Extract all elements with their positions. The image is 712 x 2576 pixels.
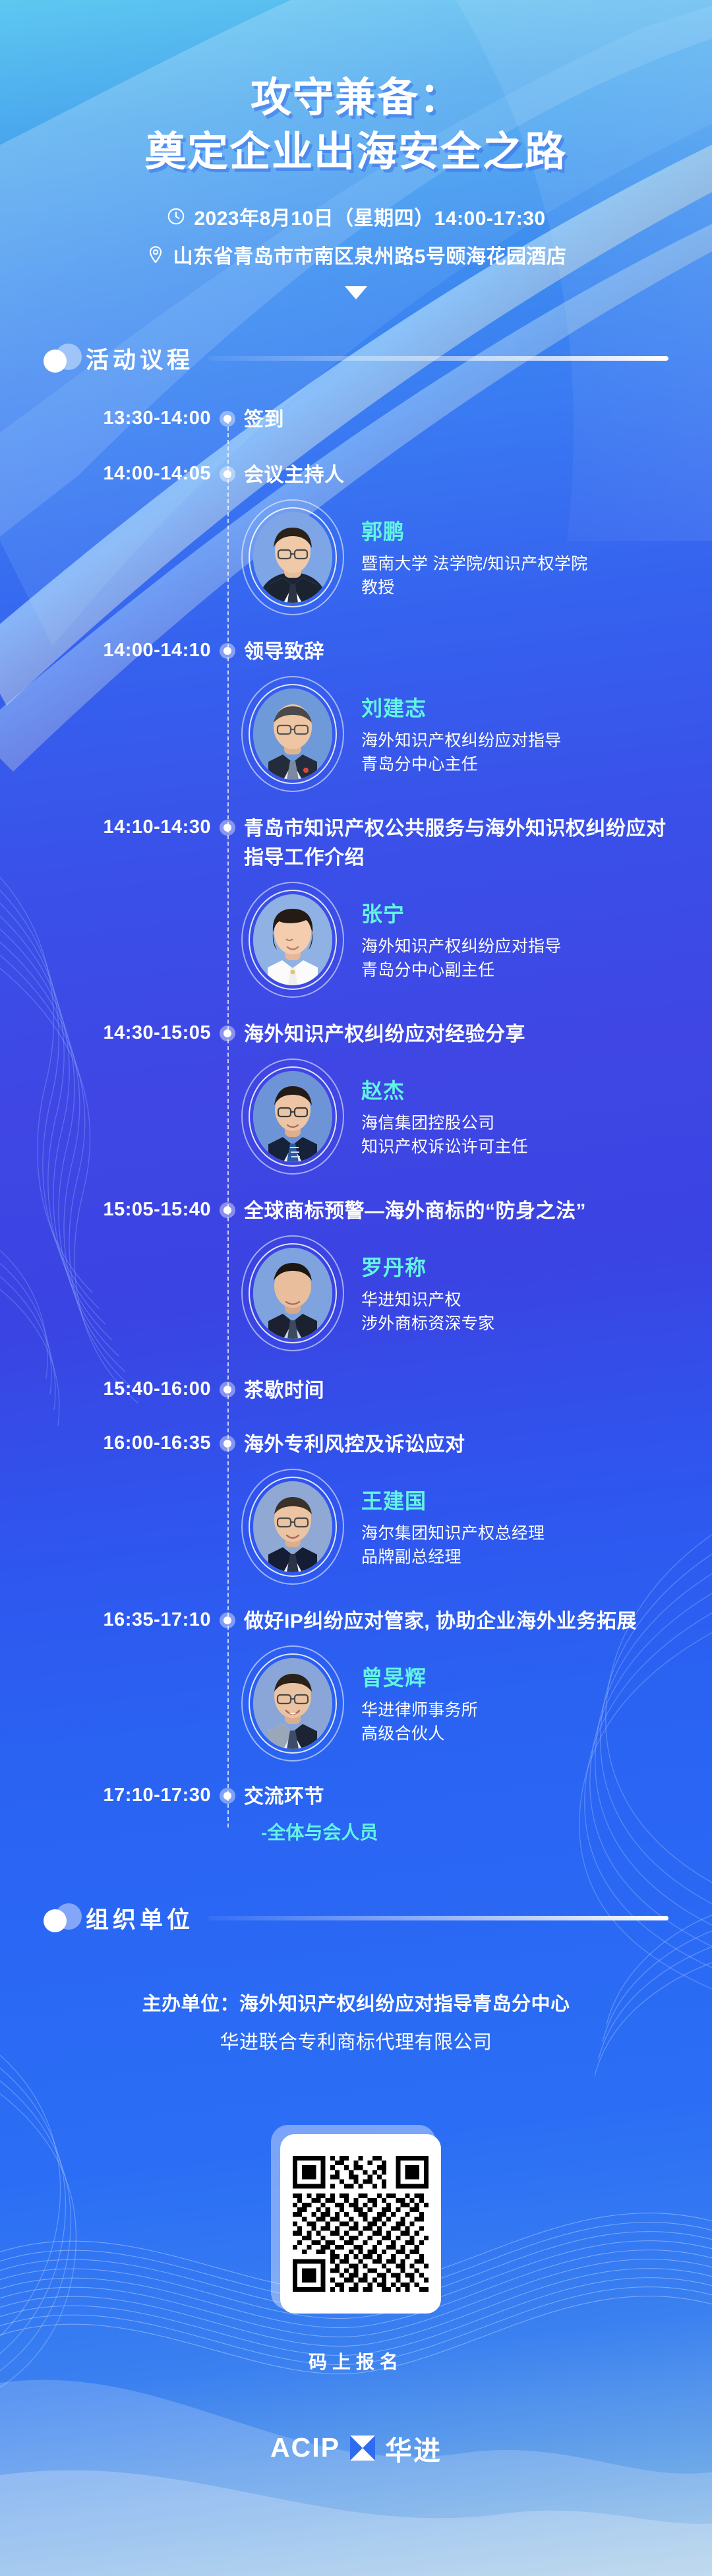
timeline-dot-icon xyxy=(220,1436,235,1452)
speaker-photo xyxy=(253,512,332,603)
agenda-time: 16:00-16:35 xyxy=(0,1430,211,1456)
speaker-block: 曾旻辉 华进律师事务所 高级合伙人 xyxy=(0,1645,712,1762)
timeline-dot-icon xyxy=(220,643,235,659)
event-datetime-row: 2023年8月10日（星期四）14:00-17:30 xyxy=(0,202,712,231)
speaker-text: 郭鹏 暨南大学 法学院/知识产权学院 教授 xyxy=(361,515,587,599)
agenda-time: 14:10-14:30 xyxy=(0,814,211,840)
speaker-name: 刘建志 xyxy=(361,692,562,722)
speaker-photo xyxy=(253,689,332,780)
speaker-photo xyxy=(253,894,332,985)
timeline-dot-wrap xyxy=(211,1376,244,1397)
page-title-line-1: 攻守兼备： xyxy=(0,71,712,125)
timeline-dot-icon xyxy=(220,1382,235,1397)
avatar xyxy=(241,1058,344,1175)
speaker-text: 刘建志 海外知识产权纠纷应对指导 青岛分中心主任 xyxy=(361,692,562,776)
speaker-affiliation-1: 海外知识产权纠纷应对指导 xyxy=(361,935,562,958)
organizer-name-2: 华进联合专利商标代理有限公司 xyxy=(0,2023,712,2062)
speaker-block: 张宁 海外知识产权纠纷应对指导 青岛分中心副主任 xyxy=(0,882,712,998)
speaker-block: 罗丹称 华进知识产权 涉外商标资深专家 xyxy=(0,1235,712,1351)
qr-caption: 码上报名 xyxy=(0,2348,712,2374)
agenda-time: 14:30-15:05 xyxy=(0,1020,211,1045)
avatar xyxy=(241,1645,344,1762)
agenda-topic: 领导致辞 xyxy=(244,638,712,667)
speaker-text: 王建国 海尔集团知识产权总经理 品牌副总经理 xyxy=(361,1485,545,1569)
agenda-topic: 海外知识产权纠纷应对经验分享 xyxy=(244,1020,712,1049)
agenda-row: 16:35-17:10 做好IP纠纷应对管家, 协助企业海外业务拓展 xyxy=(0,1607,712,1636)
organizer-section-title: 组织单位 xyxy=(86,1901,194,1935)
agenda-row: 14:10-14:30 青岛市知识产权公共服务与海外知识权纠纷应对指导工作介绍 xyxy=(0,814,712,873)
speaker-name: 郭鹏 xyxy=(361,515,587,545)
section-marker-dots-icon xyxy=(44,344,80,373)
speaker-affiliation-2: 青岛分中心副主任 xyxy=(361,958,562,982)
speaker-affiliation-2: 青岛分中心主任 xyxy=(361,752,562,776)
speaker-photo xyxy=(253,1071,332,1162)
speaker-text: 曾旻辉 华进律师事务所 高级合伙人 xyxy=(361,1661,478,1746)
timeline-dot-icon xyxy=(220,466,235,482)
agenda-topic: 海外专利风控及诉讼应对 xyxy=(244,1430,712,1459)
speaker-photo xyxy=(253,1481,332,1572)
speaker-affiliation-2: 品牌副总经理 xyxy=(361,1545,545,1569)
agenda-topic: 做好IP纠纷应对管家, 协助企业海外业务拓展 xyxy=(244,1607,712,1636)
avatar xyxy=(241,676,344,792)
timeline-dot-icon xyxy=(220,1026,235,1041)
qr-card[interactable] xyxy=(280,2134,441,2314)
speaker-text: 张宁 海外知识产权纠纷应对指导 青岛分中心副主任 xyxy=(361,898,562,982)
speaker-affiliation-1: 华进律师事务所 xyxy=(361,1698,478,1722)
timeline-dot-wrap xyxy=(211,406,244,427)
agenda-timeline: 13:30-14:00 签到 14:00-14:05 会议主持人 xyxy=(0,406,712,1854)
organizer-primary-line: 主办单位：海外知识产权纠纷应对指导青岛分中心 xyxy=(0,1985,712,2023)
poster-header: 攻守兼备： 奠定企业出海安全之路 2023年8月10日（星期四）14:00-17… xyxy=(0,0,712,299)
timeline-dot-icon xyxy=(220,411,235,427)
brand-latin-text: ACIP xyxy=(270,2432,340,2463)
speaker-photo xyxy=(253,1658,332,1749)
avatar xyxy=(241,882,344,998)
timeline-dot-icon xyxy=(220,1788,235,1804)
speaker-affiliation-2: 高级合伙人 xyxy=(361,1722,478,1746)
speaker-affiliation-1: 暨南大学 法学院/知识产权学院 xyxy=(361,552,587,576)
speaker-text: 赵杰 海信集团控股公司 知识产权诉讼许可主任 xyxy=(361,1074,528,1159)
speaker-affiliation-1: 海信集团控股公司 xyxy=(361,1111,528,1135)
speaker-affiliation-2: 教授 xyxy=(361,576,587,599)
timeline-dot-wrap xyxy=(211,814,244,836)
speaker-name: 曾旻辉 xyxy=(361,1661,478,1692)
avatar xyxy=(241,1469,344,1585)
speaker-block: 王建国 海尔集团知识产权总经理 品牌副总经理 xyxy=(0,1469,712,1585)
speaker-name: 罗丹称 xyxy=(361,1251,494,1281)
speaker-affiliation-2: 知识产权诉讼许可主任 xyxy=(361,1135,528,1159)
agenda-topic: 青岛市知识产权公共服务与海外知识权纠纷应对指导工作介绍 xyxy=(244,814,712,873)
speaker-block: 郭鹏 暨南大学 法学院/知识产权学院 教授 xyxy=(0,499,712,615)
agenda-row: 13:30-14:00 签到 xyxy=(0,406,712,435)
timeline-dot-wrap xyxy=(211,1197,244,1218)
timeline-dot-icon xyxy=(220,820,235,836)
caret-down-icon xyxy=(345,286,367,299)
section-divider-rule xyxy=(208,1916,668,1920)
agenda-time: 17:10-17:30 xyxy=(0,1783,211,1808)
agenda-row: 17:10-17:30 交流环节 -全体与会人员 xyxy=(0,1783,712,1847)
speaker-affiliation-2: 涉外商标资深专家 xyxy=(361,1312,494,1335)
speaker-text: 罗丹称 华进知识产权 涉外商标资深专家 xyxy=(361,1251,494,1335)
timeline-dot-wrap xyxy=(211,461,244,482)
event-poster: 攻守兼备： 奠定企业出海安全之路 2023年8月10日（星期四）14:00-17… xyxy=(0,0,712,2576)
event-location-text: 山东省青岛市市南区泉州路5号颐海花园酒店 xyxy=(173,240,567,269)
timeline-dot-wrap xyxy=(211,638,244,659)
agenda-row: 15:05-15:40 全球商标预警—海外商标的“防身之法” xyxy=(0,1197,712,1226)
speaker-block: 赵杰 海信集团控股公司 知识产权诉讼许可主任 xyxy=(0,1058,712,1175)
timeline-dot-icon xyxy=(220,1202,235,1218)
agenda-row: 15:40-16:00 茶歇时间 xyxy=(0,1376,712,1405)
brand-logo: ACIP 华进 xyxy=(0,2428,712,2468)
event-meta: 2023年8月10日（星期四）14:00-17:30 山东省青岛市市南区泉州路5… xyxy=(0,202,712,269)
event-location-row: 山东省青岛市市南区泉州路5号颐海花园酒店 xyxy=(0,240,712,269)
event-datetime-text: 2023年8月10日（星期四）14:00-17:30 xyxy=(194,202,545,231)
agenda-note: -全体与会人员 xyxy=(261,1818,378,1847)
agenda-time: 13:30-14:00 xyxy=(0,406,211,431)
agenda-topic: 茶歇时间 xyxy=(244,1376,712,1405)
brand-chinese-text: 华进 xyxy=(385,2428,442,2468)
timeline-dot-wrap xyxy=(211,1783,244,1804)
agenda-topic: 全球商标预警—海外商标的“防身之法” xyxy=(244,1197,712,1226)
qr-card-holder[interactable] xyxy=(271,2125,441,2314)
speaker-block: 刘建志 海外知识产权纠纷应对指导 青岛分中心主任 xyxy=(0,676,712,792)
agenda-time: 15:05-15:40 xyxy=(0,1197,211,1222)
agenda-section-title: 活动议程 xyxy=(86,342,194,375)
organizer-body: 主办单位：海外知识产权纠纷应对指导青岛分中心 华进联合专利商标代理有限公司 xyxy=(0,1985,712,2062)
agenda-row: 14:00-14:05 会议主持人 xyxy=(0,461,712,490)
agenda-time: 14:00-14:10 xyxy=(0,638,211,663)
agenda-time: 14:00-14:05 xyxy=(0,461,211,486)
avatar xyxy=(241,499,344,615)
organizer-section-header: 组织单位 xyxy=(44,1901,668,1935)
page-title-line-2: 奠定企业出海安全之路 xyxy=(0,125,712,179)
registration-qr-zone: 码上报名 xyxy=(0,2125,712,2374)
timeline-dot-icon xyxy=(220,1612,235,1628)
agenda-time: 15:40-16:00 xyxy=(0,1376,211,1401)
speaker-name: 赵杰 xyxy=(361,1074,528,1105)
avatar xyxy=(241,1235,344,1351)
organizer-name-1: 海外知识产权纠纷应对指导青岛分中心 xyxy=(239,1994,570,2015)
agenda-topic: 签到 xyxy=(244,406,712,435)
speaker-affiliation-1: 海外知识产权纠纷应对指导 xyxy=(361,729,562,752)
agenda-section-header: 活动议程 xyxy=(44,342,668,375)
speaker-photo xyxy=(253,1248,332,1339)
acip-diamond-logo-icon xyxy=(349,2435,376,2461)
speaker-name: 张宁 xyxy=(361,898,562,928)
speaker-affiliation-1: 华进知识产权 xyxy=(361,1288,494,1312)
organizer-label: 主办单位： xyxy=(142,1994,239,2015)
timeline-dot-wrap xyxy=(211,1430,244,1452)
agenda-row: 16:00-16:35 海外专利风控及诉讼应对 xyxy=(0,1430,712,1459)
qr-code-icon[interactable] xyxy=(293,2156,429,2292)
agenda-topic-group: 交流环节 -全体与会人员 xyxy=(244,1783,378,1847)
agenda-row: 14:30-15:05 海外知识产权纠纷应对经验分享 xyxy=(0,1020,712,1049)
speaker-affiliation-1: 海尔集团知识产权总经理 xyxy=(361,1521,545,1545)
clock-icon xyxy=(166,206,186,226)
agenda-topic: 会议主持人 xyxy=(244,461,712,490)
agenda-row: 14:00-14:10 领导致辞 xyxy=(0,638,712,667)
timeline-dot-wrap xyxy=(211,1607,244,1628)
section-marker-dots-icon xyxy=(44,1903,80,1932)
agenda-topic: 交流环节 xyxy=(244,1783,378,1812)
timeline-dot-wrap xyxy=(211,1020,244,1041)
agenda-time: 16:35-17:10 xyxy=(0,1607,211,1632)
speaker-name: 王建国 xyxy=(361,1485,545,1515)
section-divider-rule xyxy=(208,356,668,361)
location-pin-icon xyxy=(146,245,165,264)
